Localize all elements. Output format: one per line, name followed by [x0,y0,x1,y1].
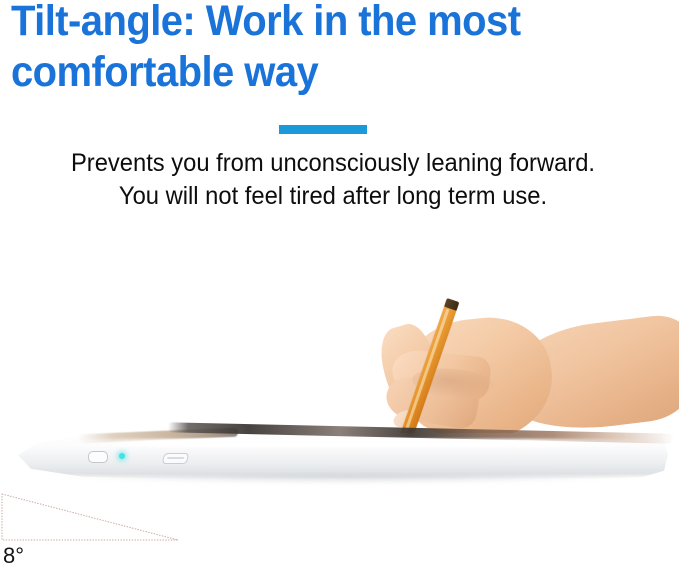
subtitle-line-1: Prevents you from unconsciously leaning … [17,147,650,180]
angle-triangle-outline [2,494,178,540]
accent-divider [279,125,367,134]
subtitle: Prevents you from unconsciously leaning … [17,147,650,213]
product-feature-page: Tilt-angle: Work in the most comfortable… [0,0,679,569]
power-button[interactable] [88,451,108,463]
tablet-edge-highlight [48,439,648,447]
usb-c-port [162,453,190,464]
page-title: Tilt-angle: Work in the most comfortable… [11,0,625,98]
tilt-angle-diagram [0,490,200,546]
product-photo [0,240,679,500]
drawing-tablet [18,425,668,483]
tablet-drop-shadow [58,475,638,484]
status-led-icon [119,453,125,459]
angle-label: 8° [3,544,24,568]
subtitle-line-2: You will not feel tired after long term … [17,180,650,213]
